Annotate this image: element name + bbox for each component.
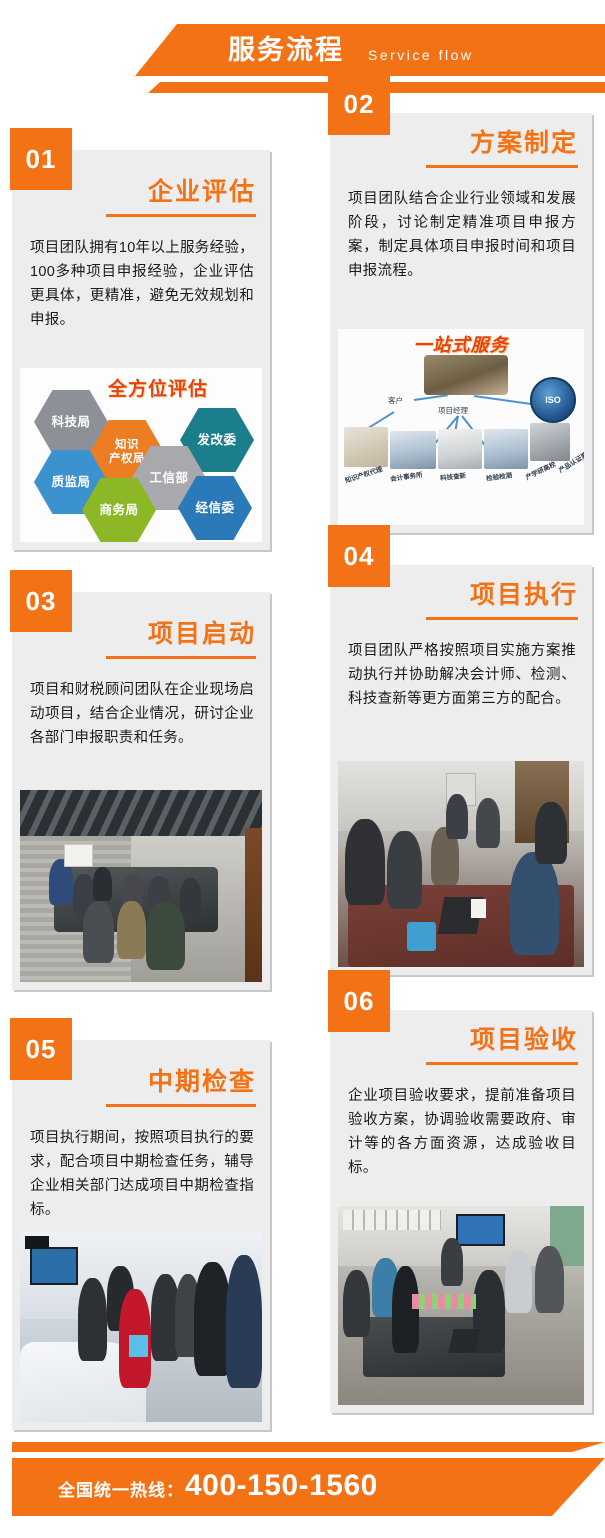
step-body-05: 项目执行期间，按照项目执行的要求，配合项目中期检查任务，辅导企业相关部门达成项目… <box>30 1126 254 1222</box>
step-media-03 <box>20 790 262 982</box>
onestop-label-manager: 项目经理 <box>438 405 468 416</box>
footer-stripe <box>12 1442 605 1452</box>
title-underline-05 <box>106 1104 256 1107</box>
title-underline-03 <box>106 656 256 659</box>
steps-row-1: 01 企业评估 项目团队拥有10年以上服务经验，100多种项目申报经验，企业评估… <box>0 105 605 557</box>
onestop-node-accounting <box>390 431 436 469</box>
step-body-06: 企业项目验收要求，提前准备项目验收方案，协调验收需要政府、审计等的各方面资源，达… <box>348 1084 576 1180</box>
steps-row-3: 05 中期检查 项目执行期间，按照项目执行的要求，配合项目中期检查任务，辅导企业… <box>0 1002 605 1442</box>
page-footer: 全国统一热线： 400-150-1560 <box>0 1420 605 1538</box>
onestop-node-university <box>530 423 570 461</box>
onestop-tag-university: 产学研高校 <box>523 458 557 481</box>
step-body-02: 项目团队结合企业行业领域和发展阶段，讨论制定精准项目申报方案，制定具体项目申报时… <box>348 187 576 283</box>
onestop-tag-accounting: 会计事务所 <box>389 469 423 483</box>
step-number-badge-01: 01 <box>10 128 72 190</box>
hex-diagram: 全方位评估 科技局 知识产权局 发改委 质监局 工信部 商务局 经信委 <box>20 368 262 542</box>
step-number-badge-02: 02 <box>328 73 390 135</box>
onestop-tag-testing: 检验检测 <box>485 469 512 483</box>
photo-project-acceptance <box>338 1206 584 1405</box>
step-number-badge-06: 06 <box>328 970 390 1032</box>
step-body-04: 项目团队严格按照项目实施方案推动执行并协助解决会计师、检测、科技查新等更方面第三… <box>348 639 576 711</box>
step-card-02[interactable]: 02 方案制定 项目团队结合企业行业领域和发展阶段，讨论制定精准项目申报方案，制… <box>330 113 592 533</box>
onestop-label-customer: 客户 <box>388 395 403 406</box>
onestop-certification-seal: ISO <box>530 377 576 423</box>
step-title-06: 项目验收 <box>470 1024 578 1056</box>
onestop-diagram: 一站式服务 客户 项目经理 ISO 知识产权代理 <box>338 329 584 525</box>
step-media-01: 全方位评估 科技局 知识产权局 发改委 质监局 工信部 商务局 经信委 <box>20 368 262 542</box>
onestop-node-search <box>438 429 482 469</box>
onestop-node-ip <box>344 427 388 467</box>
step-title-04: 项目执行 <box>470 579 578 611</box>
step-media-05 <box>20 1232 262 1422</box>
step-title-03: 项目启动 <box>148 618 256 650</box>
onestop-node-testing <box>484 429 528 469</box>
hotline-label: 全国统一热线： <box>58 1476 184 1501</box>
steps-grid: 01 企业评估 项目团队拥有10年以上服务经验，100多种项目申报经验，企业评估… <box>0 105 605 1442</box>
step-body-01: 项目团队拥有10年以上服务经验，100多种项目申报经验，企业评估更具体，更精准，… <box>30 236 254 332</box>
onestop-arrow-1 <box>414 394 448 401</box>
steps-row-2: 03 项目启动 项目和财税顾问团队在企业现场启动项目，结合企业情况，研讨企业各部… <box>0 557 605 1002</box>
step-card-04[interactable]: 04 项目执行 项目团队严格按照项目实施方案推动执行并协助解决会计师、检测、科技… <box>330 565 592 975</box>
title-underline-04 <box>426 617 578 620</box>
step-title-01: 企业评估 <box>148 176 256 208</box>
title-underline-02 <box>426 165 578 168</box>
step-media-06 <box>338 1206 584 1405</box>
step-card-06[interactable]: 06 项目验收 企业项目验收要求，提前准备项目验收方案，协调验收需要政府、审计等… <box>330 1010 592 1413</box>
page-subtitle: Service flow <box>368 45 473 65</box>
step-card-05[interactable]: 05 中期检查 项目执行期间，按照项目执行的要求，配合项目中期检查任务，辅导企业… <box>12 1040 270 1430</box>
page-header: 服务流程 Service flow <box>0 0 605 105</box>
photo-project-kickoff <box>20 790 262 982</box>
hex-diagram-caption: 全方位评估 <box>108 374 208 401</box>
step-title-02: 方案制定 <box>470 127 578 159</box>
step-number-badge-05: 05 <box>10 1018 72 1080</box>
onestop-hub-photo <box>424 355 508 395</box>
page-title: 服务流程 <box>228 32 344 68</box>
onestop-caption: 一站式服务 <box>414 331 509 357</box>
step-number-badge-04: 04 <box>328 525 390 587</box>
step-number-badge-03: 03 <box>10 570 72 632</box>
step-card-03[interactable]: 03 项目启动 项目和财税顾问团队在企业现场启动项目，结合企业情况，研讨企业各部… <box>12 592 270 990</box>
onestop-tag-search: 科技查新 <box>440 470 467 483</box>
step-title-05: 中期检查 <box>148 1066 256 1098</box>
title-underline-01 <box>106 214 256 217</box>
step-card-01[interactable]: 01 企业评估 项目团队拥有10年以上服务经验，100多种项目申报经验，企业评估… <box>12 150 270 550</box>
step-media-02: 一站式服务 客户 项目经理 ISO 知识产权代理 <box>338 329 584 525</box>
photo-project-execution <box>338 761 584 967</box>
step-media-04 <box>338 761 584 967</box>
title-underline-06 <box>426 1062 578 1065</box>
photo-midterm-inspection <box>20 1232 262 1422</box>
step-body-03: 项目和财税顾问团队在企业现场启动项目，结合企业情况，研讨企业各部门申报职责和任务… <box>30 678 254 750</box>
hotline-number[interactable]: 400-150-1560 <box>185 1469 378 1503</box>
